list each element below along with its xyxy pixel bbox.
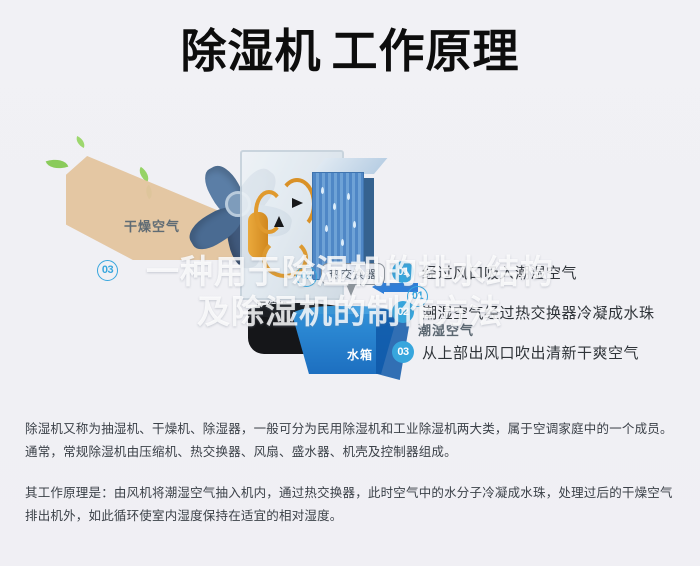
heat-exchanger-callout: 热交换器 [321, 263, 385, 285]
list-item: 01 经过风口吸入潮湿空气 [392, 252, 692, 292]
water-tank-label: 水箱 [347, 346, 373, 363]
badge-02: 02 [296, 266, 317, 287]
step-text: 从上部出风口吹出清新干爽空气 [422, 342, 639, 363]
infographic-page: 除湿机工作原理 干燥空气 [0, 0, 700, 566]
title-part-1: 除湿机 [181, 24, 322, 78]
leaf-icon [46, 155, 69, 173]
paragraph-2: 其工作原理是：由风机将潮湿空气抽入机内，通过热交换器，此时空气中的水分子冷凝成水… [25, 482, 677, 528]
flow-arrow-right-icon [292, 198, 303, 208]
step-list: 01 经过风口吸入潮湿空气 02 潮湿空气经过热交换器冷凝成水珠 03 从上部出… [392, 252, 692, 372]
paragraph-1: 除湿机又称为抽湿机、干燥机、除湿器，一般可分为民用除湿机和工业除湿机两大类，属于… [25, 418, 677, 464]
page-title: 除湿机工作原理 [0, 26, 700, 77]
water-tank-graphic: 水箱 [292, 306, 398, 378]
body-copy: 除湿机又称为抽湿机、干燥机、除湿器，一般可分为民用除湿机和工业除湿机两大类，属于… [25, 418, 677, 528]
dry-air-label: 干燥空气 [124, 216, 180, 235]
air-swoosh-graphic [380, 120, 700, 270]
badge-03: 03 [97, 260, 118, 281]
step-number: 02 [392, 301, 414, 323]
list-item: 03 从上部出风口吹出清新干爽空气 [392, 332, 692, 372]
list-item: 02 潮湿空气经过热交换器冷凝成水珠 [392, 292, 692, 332]
heat-exchanger-graphic [312, 158, 374, 280]
step-text: 经过风口吸入潮湿空气 [422, 262, 577, 283]
step-number: 01 [392, 261, 414, 283]
title-part-2: 工作原理 [332, 24, 520, 78]
step-number: 03 [392, 341, 414, 363]
flow-arrow-up-icon [274, 216, 284, 227]
step-text: 潮湿空气经过热交换器冷凝成水珠 [422, 302, 655, 323]
leaf-icon [74, 136, 87, 148]
